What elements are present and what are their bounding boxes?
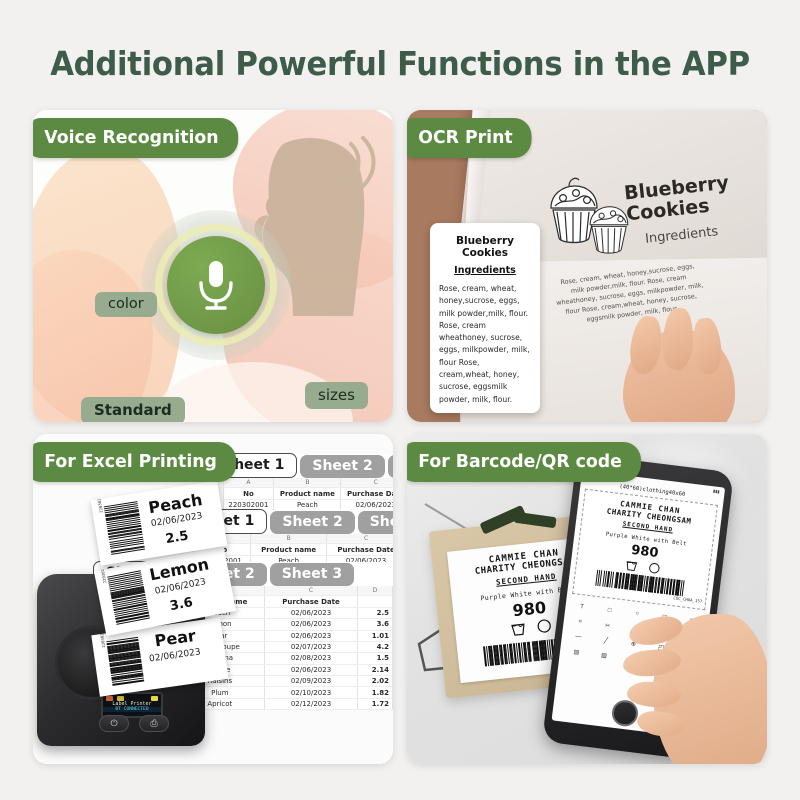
tool-glyph-icon: ▧ — [601, 651, 607, 659]
tool-glyph-icon: ▤ — [573, 648, 579, 656]
cell: Peach — [274, 499, 341, 510]
sheet-tab-3[interactable]: Sheet 3 — [388, 455, 393, 478]
label-price: 2.5 — [165, 529, 190, 547]
cell-date: 02/06/2023 — [265, 619, 358, 630]
col-letter: D — [357, 586, 392, 596]
tool-glyph-icon: ✂ — [605, 622, 611, 630]
tool-glyph-icon: □ — [607, 607, 611, 613]
barcode-icon — [106, 637, 144, 687]
cell-price: 3.6 — [357, 619, 392, 630]
tag-sizes[interactable]: sizes — [305, 382, 368, 409]
circle-dry-icon — [647, 562, 661, 575]
spreadsheet-back: Sheet 1 Sheet 2 Sheet 3 A B C 1 No Produ… — [211, 454, 393, 511]
col-letter: B — [274, 478, 341, 488]
phone-tool-button-2[interactable]: □ — [597, 603, 623, 618]
circle-dry-icon — [536, 618, 553, 634]
tool-glyph-icon: ⌗ — [578, 618, 582, 625]
tool-glyph-icon: T — [580, 604, 584, 610]
col-header — [357, 596, 392, 607]
tool-glyph-icon: — — [575, 634, 582, 641]
cell-date: 02/09/2023 — [265, 676, 358, 687]
spreadsheet-grid: A B C 1 No Product name Purchase Date 2 … — [211, 478, 393, 511]
col-letter: A — [223, 478, 274, 488]
cell-price: 1.82 — [357, 687, 392, 698]
microphone-graphic — [141, 210, 291, 360]
cell-price: 1.5 — [357, 653, 392, 664]
phone-tool-button-17[interactable]: ▧ — [591, 648, 617, 663]
phone-tool-button-1[interactable]: T — [569, 600, 595, 615]
col-header: Product name — [251, 544, 327, 555]
col-header: Product name — [274, 488, 341, 499]
cell-date: 02/06/2023 — [265, 664, 358, 675]
cell-date: 02/07/2023 — [265, 641, 358, 652]
panel-voice-recognition: color Standard sizes Material Numbering … — [33, 110, 393, 422]
cupcake-line-art-icon — [535, 168, 635, 256]
phone-tool-button-16[interactable]: ▤ — [563, 644, 589, 659]
status-indicators: ▮▮▮ — [713, 488, 720, 494]
sheet-tab-bar: Sheet 1 Sheet 2 Sheet 3 — [211, 454, 393, 478]
panel-badge-ocr: OCR Print — [407, 118, 532, 158]
cell-price: 1.72 — [357, 698, 392, 709]
ocr-printed-label: Blueberry Cookies Ingredients Rose, crea… — [430, 223, 540, 413]
sound-wave-icon — [341, 134, 385, 190]
sheet-tab-3[interactable]: Sheet 3 — [358, 511, 393, 534]
cell-price: 2.02 — [357, 676, 392, 687]
cell: 02/06/2023 — [341, 499, 393, 510]
label-subtitle: Ingredients — [439, 265, 531, 276]
col-header: No — [223, 488, 274, 499]
panel-badge-excel: For Excel Printing — [33, 442, 236, 482]
col-letter: C — [327, 534, 393, 544]
hand-holding-phone-icon — [623, 584, 767, 764]
printer-power-button[interactable]: ⏻ — [99, 715, 129, 732]
cell-date: 02/06/2023 — [265, 607, 358, 618]
cell-date: 02/10/2023 — [265, 687, 358, 698]
panel-badge-voice: Voice Recognition — [33, 118, 238, 158]
phone-tool-button-12[interactable]: ╱ — [593, 633, 619, 648]
panel-badge-barcode: For Barcode/QR code — [407, 442, 641, 482]
mic-button[interactable] — [167, 236, 265, 334]
phone-tool-button-11[interactable]: — — [565, 629, 591, 644]
tool-glyph-icon: ╱ — [604, 637, 608, 644]
panel-ocr-print: Blueberry Cookies Ingredients Rose, crea… — [407, 110, 767, 422]
cell-price: 2.14 — [357, 664, 392, 675]
cell-price: 1.01 — [357, 630, 392, 641]
cell-date: 02/12/2023 — [265, 698, 358, 709]
cell-date: 02/06/2023 — [265, 630, 358, 641]
label-title: Blueberry Cookies — [439, 235, 531, 259]
label-price: 3.6 — [169, 595, 194, 614]
sheet-tab-2[interactable]: Sheet 2 — [270, 511, 354, 534]
hand-holding-book-icon — [623, 330, 735, 422]
label-ingredients-text: Rose, cream, wheat, honey,sucrose, eggs,… — [439, 283, 531, 406]
promo-image: Additional Powerful Functions in the APP — [0, 0, 800, 800]
wash-bucket-icon — [624, 559, 638, 572]
col-header: Purchase Date — [327, 544, 393, 555]
col-header: Purchase Date — [265, 596, 358, 607]
tag-color[interactable]: color — [95, 292, 157, 317]
cell-price: 2.5 — [357, 607, 392, 618]
printer-feed-button[interactable]: ⎙ — [139, 715, 169, 732]
panel-barcode-qr: CAMMIE CHAN CHARITY CHEONGSAM SECOND HAN… — [407, 434, 767, 764]
cell-date: 02/08/2023 — [265, 653, 358, 664]
printer-screen-line2: BT CONNECTED — [103, 707, 161, 712]
sheet-tab-3[interactable]: Sheet 3 — [270, 563, 354, 586]
microphone-icon — [193, 257, 239, 313]
col-letter: C — [341, 478, 393, 488]
page-title: Additional Powerful Functions in the APP — [28, 44, 772, 83]
label-product-name: Pear — [153, 626, 197, 651]
col-header: Purchase Date — [341, 488, 393, 499]
col-letter: B — [251, 534, 327, 544]
cell-price: 4.2 — [357, 641, 392, 652]
barcode-icon — [107, 570, 150, 626]
phone-tool-button-6[interactable]: ⌗ — [567, 615, 593, 630]
panel-excel-printing: Sheet 1 Sheet 2 Sheet 3 A B C 1 No Produ… — [33, 434, 393, 764]
phone-tool-button-7[interactable]: ✂ — [595, 618, 621, 633]
sheet-tab-2[interactable]: Sheet 2 — [300, 455, 384, 478]
printer-battery-icon — [151, 696, 158, 701]
barcode-icon — [104, 501, 145, 556]
tag-standard[interactable]: Standard — [81, 397, 185, 422]
wash-bucket-icon — [510, 621, 527, 637]
col-letter: C — [265, 586, 358, 596]
